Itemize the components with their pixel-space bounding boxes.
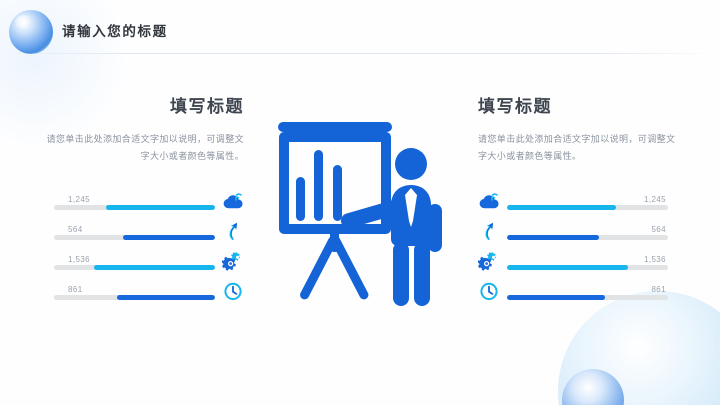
metric-value-label: 564 (507, 224, 668, 235)
metric-value-label: 1,536 (54, 254, 215, 265)
metric-row-inner: 861 (478, 276, 668, 306)
metric-value-label: 861 (507, 284, 668, 295)
left-column-text: 填写标题 请您单击此处添加合适文字加以说明，可调整文字大小或者颜色等属性。 (44, 92, 244, 164)
metric-value-label: 1,245 (54, 194, 215, 205)
metric-bar-stack: 861 (507, 283, 668, 300)
slide-header: 请输入您的标题 (0, 0, 720, 54)
right-column-description: 请您单击此处添加合适文字加以说明，可调整文字大小或者颜色等属性。 (478, 131, 678, 164)
gradient-sphere-icon (9, 10, 53, 54)
progress-bar-track[interactable] (507, 235, 668, 240)
progress-bar-fill (94, 265, 215, 270)
presenter-chart-illustration (272, 112, 454, 310)
header-divider (0, 53, 720, 54)
slide-canvas: 请输入您的标题 填写标题 请您单击此处添加合适文字加以说明，可调整文字大小或者颜… (0, 0, 720, 405)
metric-value-label: 861 (54, 284, 215, 295)
progress-bar-track[interactable] (507, 205, 668, 210)
progress-bar-fill (507, 295, 605, 300)
cloud-signal-icon (222, 190, 244, 212)
metric-row: 1,245 (478, 186, 668, 216)
cloud-signal-icon (478, 190, 500, 212)
metric-bar-stack: 1,536 (507, 253, 668, 270)
progress-bar-fill (117, 295, 215, 300)
right-metrics-list: 1,245 564 1,536 861 (478, 186, 668, 306)
metric-value-label: 1,536 (507, 254, 668, 265)
progress-bar-track[interactable] (507, 295, 668, 300)
progress-bar-fill (507, 205, 616, 210)
metric-value-label: 1,245 (507, 194, 668, 205)
progress-bar-fill (507, 265, 628, 270)
arrow-up-curve-icon (222, 220, 244, 242)
metric-row-inner: 564 (54, 216, 244, 246)
progress-bar-track[interactable] (507, 265, 668, 270)
metric-row: 564 (54, 216, 244, 246)
right-column-text: 填写标题 请您单击此处添加合适文字加以说明，可调整文字大小或者颜色等属性。 (478, 92, 678, 164)
progress-bar-fill (106, 205, 215, 210)
left-metrics-list: 1,245 564 1,536 861 (54, 186, 244, 306)
clock-icon (222, 280, 244, 302)
metric-row-inner: 1,536 (54, 246, 244, 276)
metric-row: 861 (478, 276, 668, 306)
progress-bar-track[interactable] (54, 295, 215, 300)
metric-row: 564 (478, 216, 668, 246)
metric-bar-stack: 1,536 (54, 253, 215, 270)
clock-icon (478, 280, 500, 302)
arrow-up-curve-icon (478, 220, 500, 242)
metric-row-inner: 1,245 (54, 186, 244, 216)
metric-bar-stack: 1,245 (54, 193, 215, 210)
progress-bar-track[interactable] (54, 235, 215, 240)
metric-row-inner: 1,245 (478, 186, 668, 216)
gears-icon (478, 250, 500, 272)
metric-value-label: 564 (54, 224, 215, 235)
progress-bar-fill (507, 235, 599, 240)
metric-row: 1,245 (54, 186, 244, 216)
left-column-title: 填写标题 (44, 92, 244, 117)
metric-row: 1,536 (54, 246, 244, 276)
right-column-title: 填写标题 (478, 92, 678, 117)
gears-icon (222, 250, 244, 272)
metric-bar-stack: 1,245 (507, 193, 668, 210)
metric-row: 861 (54, 276, 244, 306)
metric-row-inner: 564 (478, 216, 668, 246)
metric-bar-stack: 564 (507, 223, 668, 240)
metric-row-inner: 1,536 (478, 246, 668, 276)
metric-bar-stack: 861 (54, 283, 215, 300)
left-column-description: 请您单击此处添加合适文字加以说明，可调整文字大小或者颜色等属性。 (44, 131, 244, 164)
progress-bar-fill (123, 235, 215, 240)
metric-row-inner: 861 (54, 276, 244, 306)
metric-row: 1,536 (478, 246, 668, 276)
page-title: 请输入您的标题 (62, 20, 168, 40)
progress-bar-track[interactable] (54, 205, 215, 210)
metric-bar-stack: 564 (54, 223, 215, 240)
progress-bar-track[interactable] (54, 265, 215, 270)
